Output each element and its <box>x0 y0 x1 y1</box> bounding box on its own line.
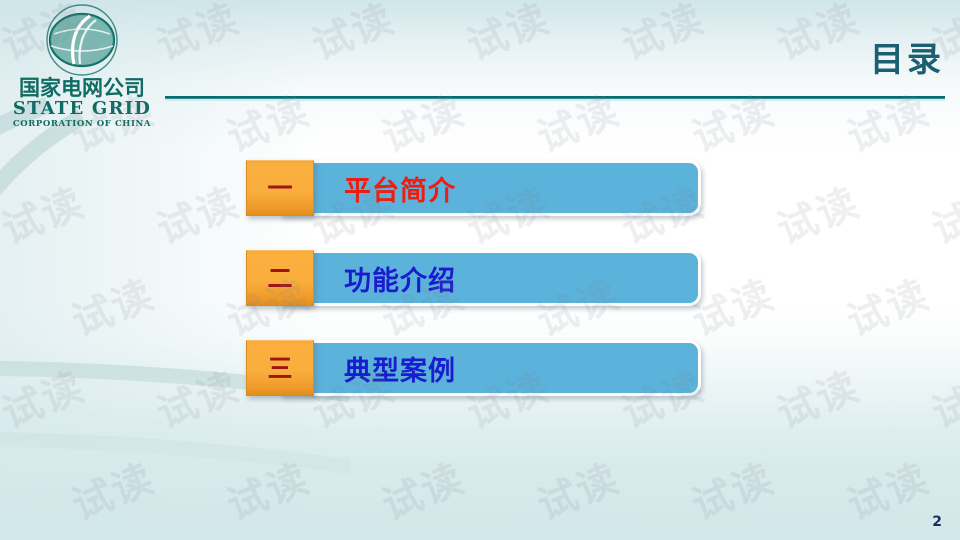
page-title: 目录 <box>870 32 944 81</box>
contents-item-number: 一 <box>267 176 292 201</box>
state-grid-globe-icon <box>36 4 128 76</box>
contents-item-label: 功能介绍 <box>344 250 456 306</box>
contents-item-number-box[interactable]: 一 <box>246 160 314 216</box>
page-number: 2 <box>932 514 942 530</box>
contents-item-3[interactable]: 三 典型案例 <box>246 340 701 396</box>
logo-english-name: STATE GRID <box>12 100 152 118</box>
contents-item-number-box[interactable]: 三 <box>246 340 314 396</box>
title-divider-rule <box>165 96 945 101</box>
divider-line-light <box>165 99 945 101</box>
contents-item-1[interactable]: 一 平台简介 <box>246 160 701 216</box>
logo-chinese-name: 国家电网公司 <box>12 77 152 99</box>
contents-list: 一 平台简介 二 功能介绍 三 典型案例 <box>246 160 701 430</box>
state-grid-logo: 国家电网公司 STATE GRID CORPORATION OF CHINA <box>12 4 152 129</box>
contents-item-number: 二 <box>267 266 292 291</box>
contents-item-number-box[interactable]: 二 <box>246 250 314 306</box>
contents-item-2[interactable]: 二 功能介绍 <box>246 250 701 306</box>
contents-item-label: 平台简介 <box>344 160 456 216</box>
contents-item-label: 典型案例 <box>344 340 456 396</box>
slide-canvas: 国家电网公司 STATE GRID CORPORATION OF CHINA 目… <box>0 0 960 540</box>
logo-english-subtitle: CORPORATION OF CHINA <box>12 120 152 129</box>
contents-item-number: 三 <box>267 356 292 381</box>
